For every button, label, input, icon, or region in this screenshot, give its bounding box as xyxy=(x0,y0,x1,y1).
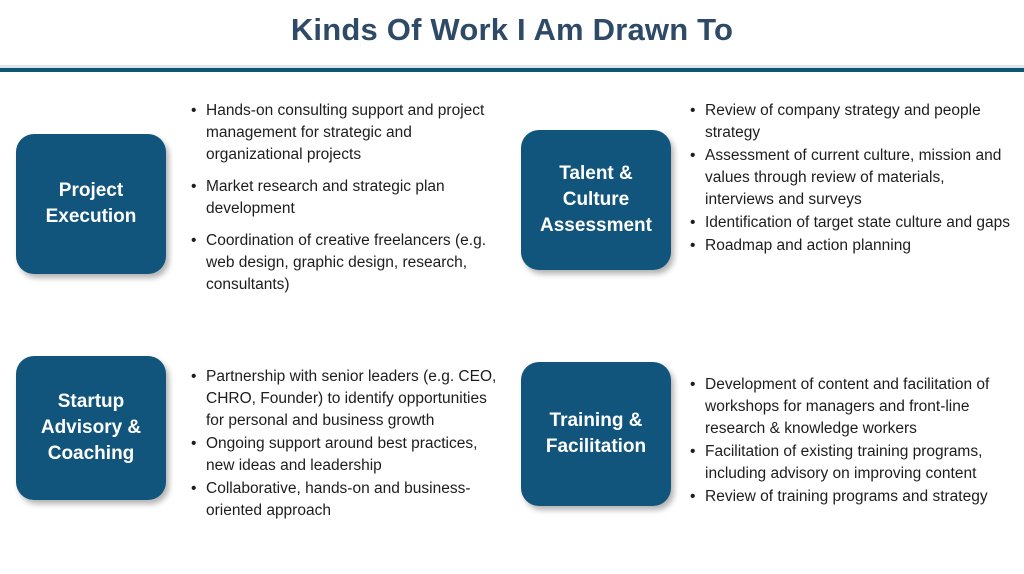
list-item: • Coordination of creative freelancers (… xyxy=(190,230,502,296)
quadrant-project-execution: Project Execution • Hands-on consulting … xyxy=(16,100,502,306)
list-item-text: Market research and strategic plan devel… xyxy=(206,176,502,220)
list-item-text: Hands-on consulting support and project … xyxy=(206,100,502,166)
list-item: • Identification of target state culture… xyxy=(689,212,1011,234)
list-item-text: Facilitation of existing training progra… xyxy=(705,441,1011,485)
bullet-list-talent-culture-assessment: • Review of company strategy and people … xyxy=(689,100,1011,258)
category-box-training-facilitation[interactable]: Training & Facilitation xyxy=(521,362,671,506)
list-item-text: Review of training programs and strategy xyxy=(705,486,1011,508)
list-item: • Roadmap and action planning xyxy=(689,235,1011,257)
page-title: Kinds Of Work I Am Drawn To xyxy=(0,12,1024,48)
category-label-line: Talent & xyxy=(559,163,633,184)
list-item-text: Ongoing support around best practices, n… xyxy=(206,433,502,477)
list-item: • Review of company strategy and people … xyxy=(689,100,1011,144)
quadrant-grid: Project Execution • Hands-on consulting … xyxy=(0,78,1024,574)
list-item-text: Development of content and facilitation … xyxy=(705,374,1011,440)
quadrant-startup-advisory-coaching: Startup Advisory & Coaching • Partnershi… xyxy=(16,350,502,523)
category-box-talent-culture-assessment[interactable]: Talent & Culture Assessment xyxy=(521,130,671,270)
list-item-text: Partnership with senior leaders (e.g. CE… xyxy=(206,366,502,432)
category-label-line: Training & xyxy=(550,410,643,431)
bullet-list-training-facilitation: • Development of content and facilitatio… xyxy=(689,374,1011,509)
category-label-line: Coaching xyxy=(48,443,135,464)
bullet-marker-icon: • xyxy=(191,230,196,252)
list-item: • Development of content and facilitatio… xyxy=(689,374,1011,440)
category-box-startup-advisory-coaching[interactable]: Startup Advisory & Coaching xyxy=(16,356,166,500)
list-item: • Review of training programs and strate… xyxy=(689,486,1011,508)
bullet-marker-icon: • xyxy=(191,176,196,198)
bullet-list-project-execution: • Hands-on consulting support and projec… xyxy=(190,100,502,306)
bullet-list-startup-advisory-coaching: • Partnership with senior leaders (e.g. … xyxy=(190,366,502,523)
list-item-text: Identification of target state culture a… xyxy=(705,212,1011,234)
quadrant-talent-culture-assessment: Talent & Culture Assessment • Review of … xyxy=(521,100,1011,270)
category-label-line: Advisory & xyxy=(41,417,141,438)
list-item: • Market research and strategic plan dev… xyxy=(190,176,502,220)
bullet-marker-icon: • xyxy=(690,100,695,122)
category-box-label: Startup Advisory & Coaching xyxy=(41,389,141,468)
list-item-text: Assessment of current culture, mission a… xyxy=(705,145,1011,211)
category-box-label: Talent & Culture Assessment xyxy=(540,161,652,240)
category-label-line: Execution xyxy=(46,206,137,227)
bullet-marker-icon: • xyxy=(191,478,196,500)
bullet-marker-icon: • xyxy=(690,235,695,257)
list-item-text: Collaborative, hands-on and business-ori… xyxy=(206,478,502,522)
bullet-marker-icon: • xyxy=(191,366,196,388)
list-item: • Hands-on consulting support and projec… xyxy=(190,100,502,166)
category-box-label: Training & Facilitation xyxy=(546,408,646,460)
list-item: • Assessment of current culture, mission… xyxy=(689,145,1011,211)
category-label-line: Assessment xyxy=(540,215,652,236)
list-item: • Facilitation of existing training prog… xyxy=(689,441,1011,485)
list-item-text: Coordination of creative freelancers (e.… xyxy=(206,230,502,296)
list-item-text: Review of company strategy and people st… xyxy=(705,100,1011,144)
bullet-marker-icon: • xyxy=(690,374,695,396)
title-divider xyxy=(0,68,1024,72)
bullet-marker-icon: • xyxy=(690,145,695,167)
bullet-marker-icon: • xyxy=(690,486,695,508)
list-item: • Partnership with senior leaders (e.g. … xyxy=(190,366,502,432)
bullet-marker-icon: • xyxy=(690,212,695,234)
category-label-line: Project xyxy=(59,180,123,201)
list-item-text: Roadmap and action planning xyxy=(705,235,1011,257)
list-item: • Collaborative, hands-on and business-o… xyxy=(190,478,502,522)
category-label-line: Culture xyxy=(563,189,630,210)
category-label-line: Startup xyxy=(58,391,125,412)
bullet-marker-icon: • xyxy=(690,441,695,463)
quadrant-training-facilitation: Training & Facilitation • Development of… xyxy=(521,350,1011,509)
category-box-project-execution[interactable]: Project Execution xyxy=(16,134,166,274)
bullet-marker-icon: • xyxy=(191,100,196,122)
list-item: • Ongoing support around best practices,… xyxy=(190,433,502,477)
category-box-label: Project Execution xyxy=(46,178,137,230)
slide-header: Kinds Of Work I Am Drawn To xyxy=(0,0,1024,72)
category-label-line: Facilitation xyxy=(546,436,646,457)
bullet-marker-icon: • xyxy=(191,433,196,455)
